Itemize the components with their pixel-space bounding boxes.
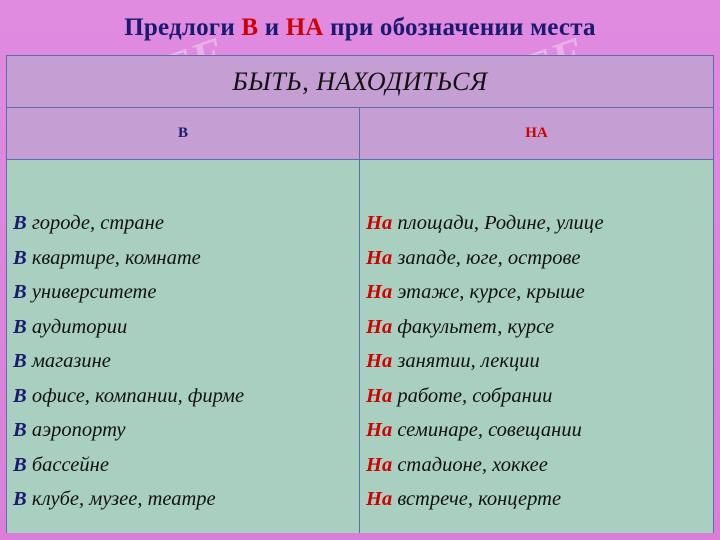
column-header-v: В (7, 108, 360, 159)
entry-text: факультет, курсе (397, 316, 554, 338)
table-header-row: БЫТЬ, НАХОДИТЬСЯ (7, 56, 713, 108)
entry-text: городе, стране (32, 212, 164, 234)
list-item: На западе, юге, острове (366, 241, 713, 276)
slide: ЛSOFF ЛSOFF ЛSOFF Предлоги В и НА при об… (0, 0, 720, 540)
entry-text: стадионе, хоккее (397, 454, 548, 476)
table-column-header-row: В НА (7, 108, 713, 160)
title-preposition-na: НА (286, 14, 324, 41)
title-part-2: и (258, 14, 286, 41)
entry-text: магазине (32, 350, 111, 372)
entry-preposition: На (366, 419, 392, 441)
prepositions-table: БЫТЬ, НАХОДИТЬСЯ В НА В городе, стране В… (6, 55, 714, 533)
page-title: Предлоги В и НА при обозначении места (0, 0, 720, 42)
entry-preposition: В (13, 488, 27, 510)
entry-preposition: В (13, 385, 27, 407)
entry-text: клубе, музее, театре (32, 488, 216, 510)
entry-text: площади, Родине, улице (397, 212, 603, 234)
entry-text: встрече, концерте (397, 488, 561, 510)
entry-preposition: На (366, 350, 392, 372)
entry-preposition: На (366, 316, 392, 338)
entry-preposition: В (13, 247, 27, 269)
entry-text: западе, юге, острове (397, 247, 580, 269)
column-body-na: На площади, Родине, улице На западе, юге… (360, 160, 713, 533)
list-item: На этаже, курсе, крыше (366, 275, 713, 310)
entry-text: квартире, комнате (32, 247, 201, 269)
entry-preposition: В (13, 281, 27, 303)
list-item: На стадионе, хоккее (366, 448, 713, 483)
title-part-3: при обозначении места (324, 14, 596, 41)
entry-text: университете (32, 281, 157, 303)
list-item: На встрече, концерте (366, 482, 713, 517)
entry-preposition: На (366, 247, 392, 269)
column-header-v-label: В (178, 125, 188, 142)
column-body-v: В городе, стране В квартире, комнате В у… (7, 160, 360, 533)
list-item: В офисе, компании, фирме (13, 379, 359, 414)
entry-preposition: В (13, 454, 27, 476)
list-item: В аудитории (13, 310, 359, 345)
list-item: В городе, стране (13, 206, 359, 241)
entry-text: семинаре, совещании (397, 419, 582, 441)
title-preposition-v: В (241, 14, 258, 41)
entry-preposition: В (13, 212, 27, 234)
list-item: На площади, Родине, улице (366, 206, 713, 241)
list-item: В магазине (13, 344, 359, 379)
entry-preposition: На (366, 454, 392, 476)
entry-text: этаже, курсе, крыше (397, 281, 584, 303)
entry-preposition: В (13, 316, 27, 338)
entry-preposition: На (366, 212, 392, 234)
table-header-label: БЫТЬ, НАХОДИТЬСЯ (232, 67, 487, 97)
entry-preposition: На (366, 281, 392, 303)
title-part-1: Предлоги (124, 14, 241, 41)
entry-text: занятии, лекции (397, 350, 539, 372)
entry-text: работе, собрании (397, 385, 552, 407)
list-item: В квартире, комнате (13, 241, 359, 276)
entry-text: аэропорту (32, 419, 126, 441)
entry-text: аудитории (32, 316, 127, 338)
list-item: На занятии, лекции (366, 344, 713, 379)
entry-text: бассейне (32, 454, 109, 476)
entry-preposition: На (366, 385, 392, 407)
list-item: В бассейне (13, 448, 359, 483)
list-item: В клубе, музее, театре (13, 482, 359, 517)
entry-preposition: В (13, 419, 27, 441)
table-body-row: В городе, стране В квартире, комнате В у… (7, 160, 713, 533)
list-item: На факультет, курсе (366, 310, 713, 345)
entry-preposition: На (366, 488, 392, 510)
list-item: На семинаре, совещании (366, 413, 713, 448)
entry-preposition: В (13, 350, 27, 372)
list-item: В университете (13, 275, 359, 310)
column-header-na-label: НА (525, 125, 548, 142)
entry-text: офисе, компании, фирме (32, 385, 244, 407)
list-item: В аэропорту (13, 413, 359, 448)
column-header-na: НА (360, 108, 713, 159)
list-item: На работе, собрании (366, 379, 713, 414)
